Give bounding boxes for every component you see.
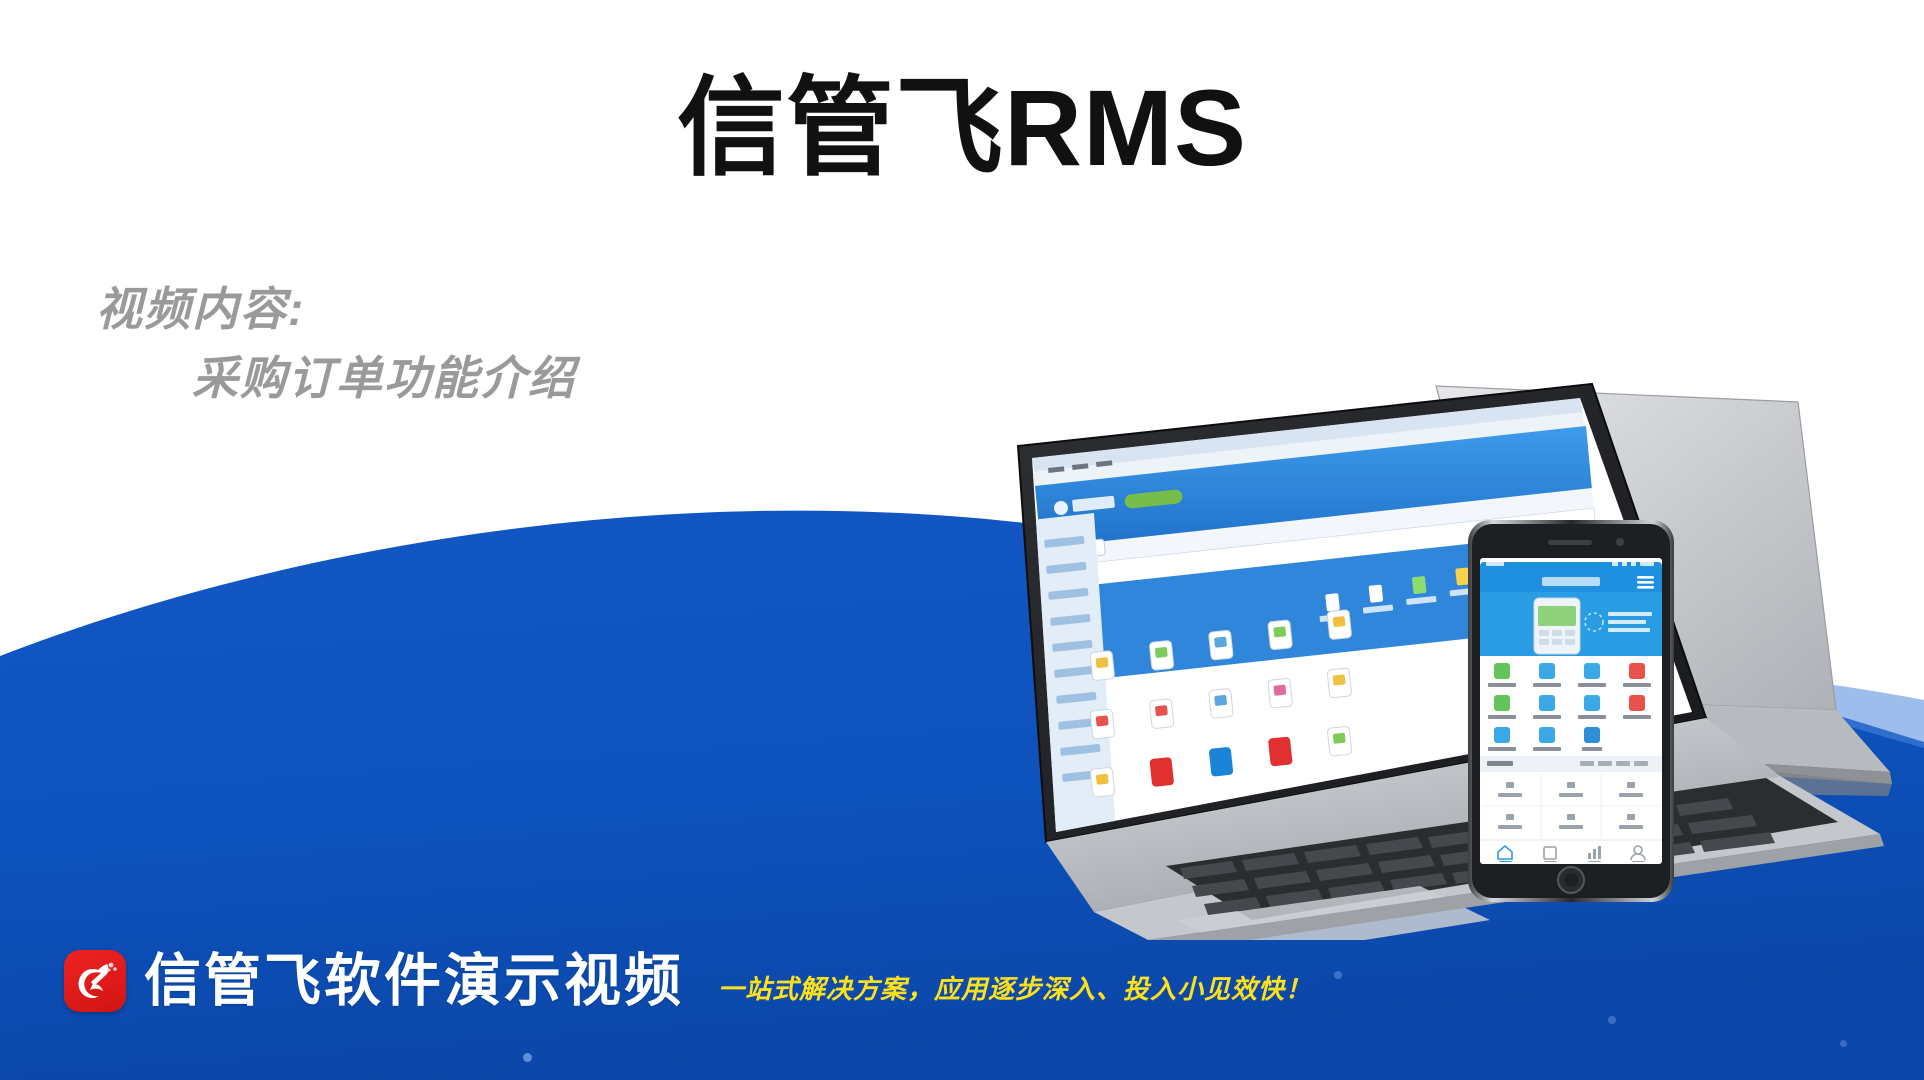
decorative-dot — [523, 1053, 532, 1062]
hamburger-icon[interactable] — [1637, 576, 1654, 589]
decorative-dot — [1840, 1040, 1847, 1047]
page-title: 信管飞RMS — [0, 68, 1924, 189]
video-content-topic: 采购订单功能介绍 — [96, 344, 576, 413]
brand-banner: 信管飞软件演示视频 一站式解决方案，应用逐步深入、投入小见效快！ — [64, 950, 1312, 1012]
brand-tagline: 一站式解决方案，应用逐步深入、投入小见效快！ — [718, 969, 1312, 1006]
phone-screen — [1480, 558, 1662, 864]
video-content-block: 视频内容: 采购订单功能介绍 — [96, 275, 576, 413]
decorative-dot — [1334, 971, 1342, 979]
device-showcase — [880, 380, 1924, 940]
presentation-slide: 信管飞RMS 视频内容: 采购订单功能介绍 — [0, 0, 1924, 1080]
brand-title: 信管飞软件演示视频 — [144, 953, 684, 1010]
decorative-dot — [1608, 1016, 1616, 1024]
smartphone — [1468, 520, 1674, 902]
xinguanfei-logo-icon — [64, 950, 126, 1012]
video-content-label: 视频内容: — [96, 275, 576, 344]
